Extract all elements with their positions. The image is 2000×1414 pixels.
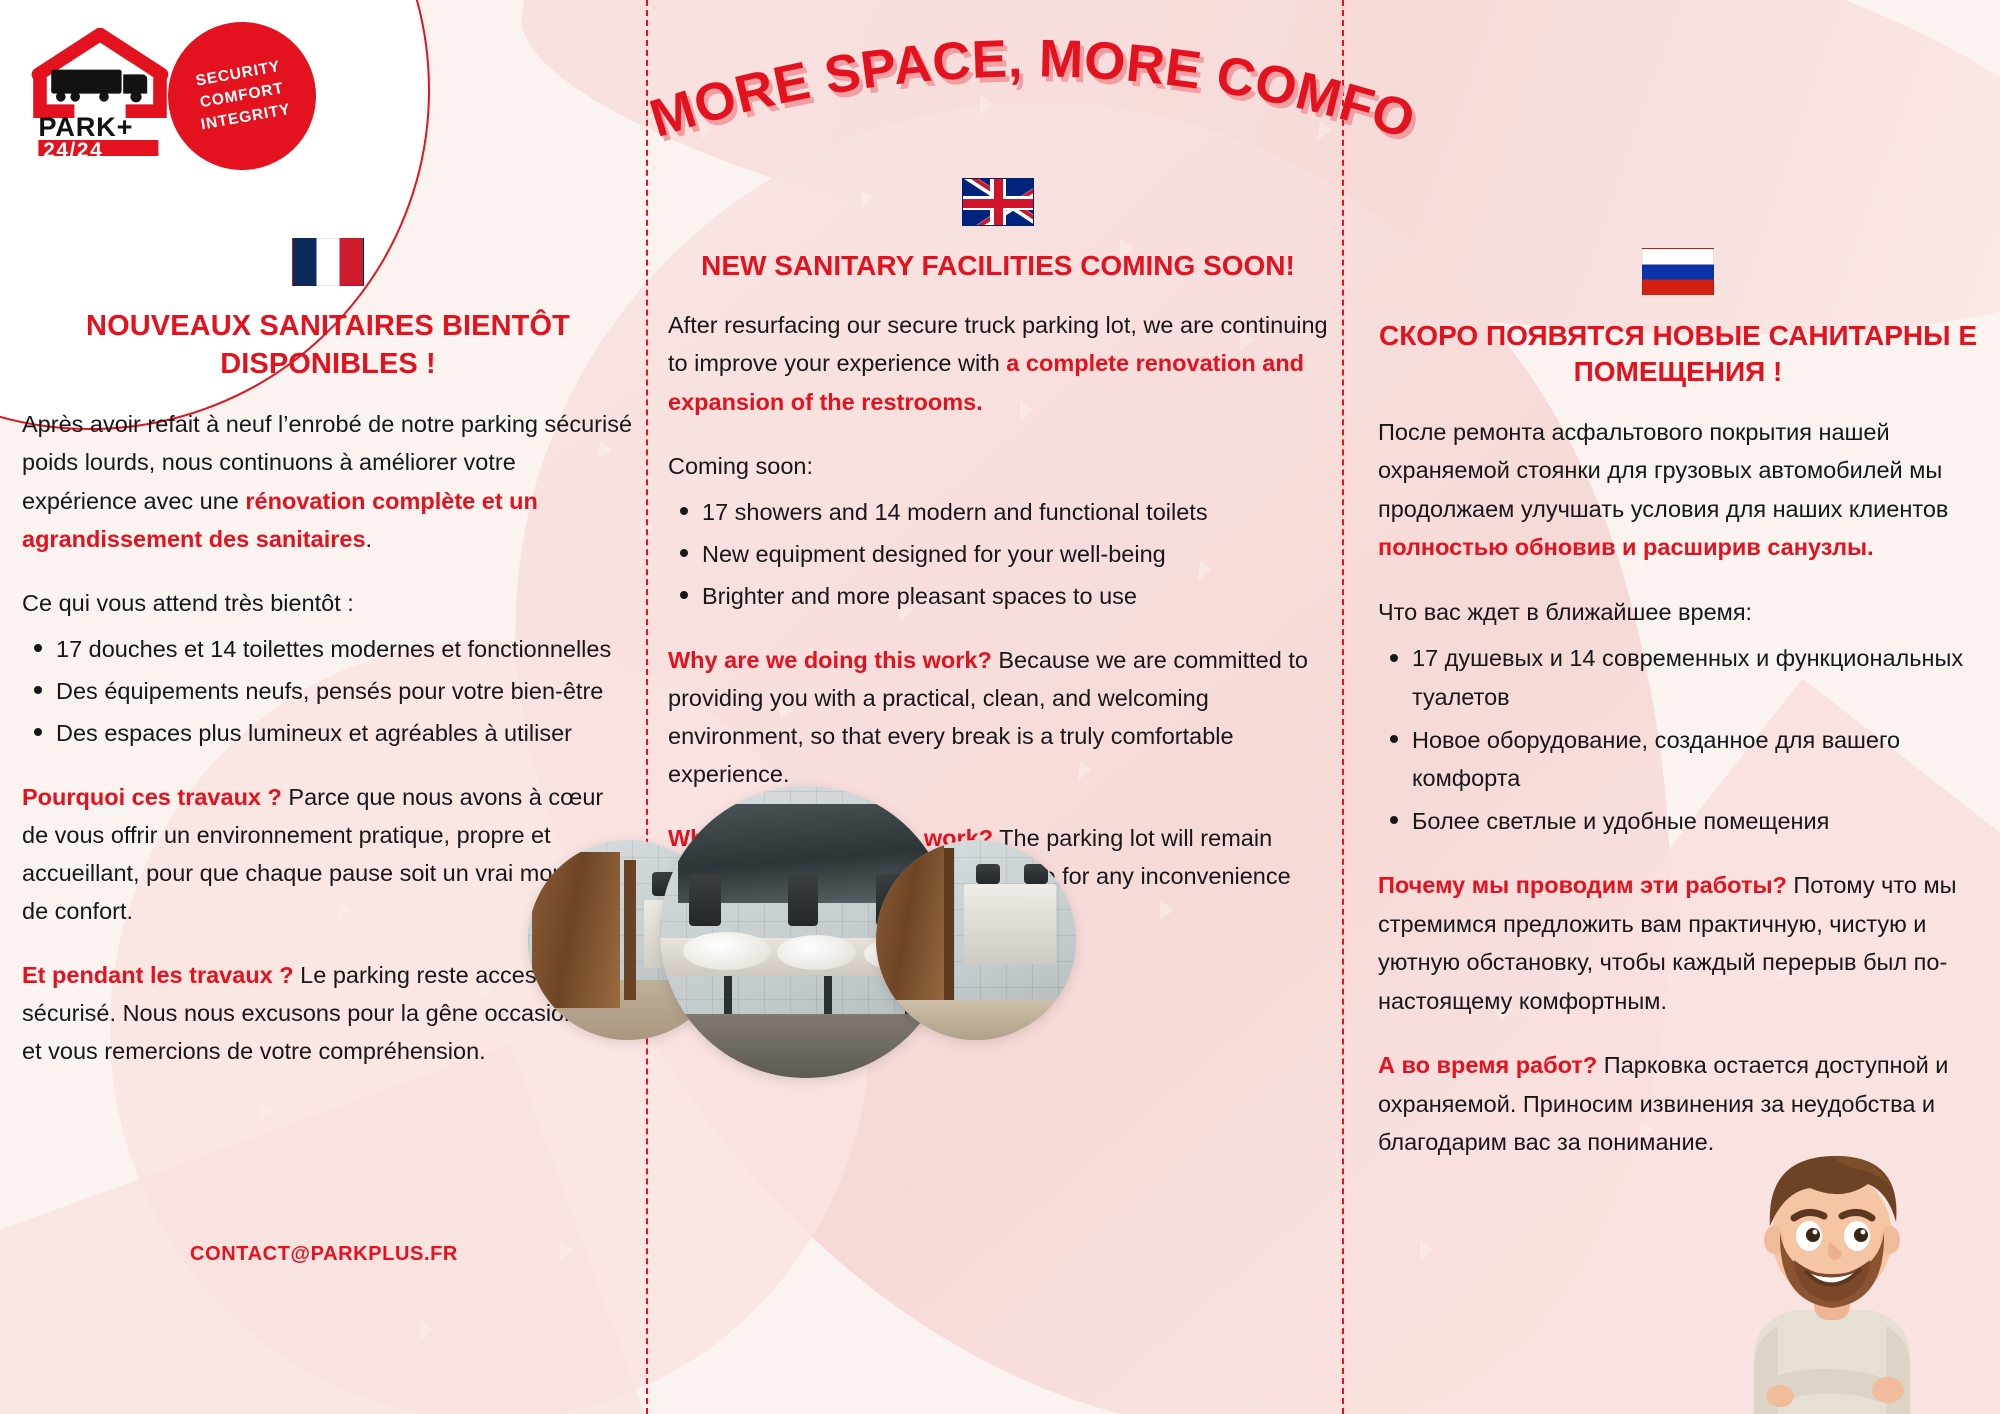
column-divider-right — [1342, 0, 1344, 1414]
english-intro: After resurfacing our secure truck parki… — [668, 306, 1328, 420]
contact-email[interactable]: CONTACT@PARKPLUS.FR — [24, 1243, 624, 1266]
french-q2-label: Et pendant les travaux ? — [22, 962, 294, 988]
russian-benefits-list: 17 душевых и 14 современных и функционал… — [1378, 639, 1978, 840]
russian-q2-label: А во время работ? — [1378, 1052, 1597, 1078]
list-item: 17 showers and 14 modern and functional … — [668, 493, 1328, 531]
french-list-lead: Ce qui vous attend très bientôt : — [22, 584, 634, 622]
russian-list-lead: Что вас ждет в ближайшее время: — [1378, 593, 1978, 632]
list-item: New equipment designed for your well-bei… — [668, 535, 1328, 573]
english-list-lead: Coming soon: — [668, 447, 1328, 485]
list-item: 17 douches et 14 toilettes modernes et f… — [22, 630, 634, 668]
french-title: NOUVEAUX SANITAIRES BIENTÔT DISPONIBLES … — [22, 308, 634, 383]
list-item: Des équipements neufs, pensés pour votre… — [22, 672, 634, 710]
russian-title: СКОРО ПОЯВЯТСЯ НОВЫЕ САНИТАРНЫ Е ПОМЕЩЕН… — [1378, 318, 1978, 391]
column-russian: СКОРО ПОЯВЯТСЯ НОВЫЕ САНИТАРНЫ Е ПОМЕЩЕН… — [1378, 248, 1978, 1188]
list-item: Более светлые и удобные помещения — [1378, 802, 1978, 841]
list-item: 17 душевых и 14 современных и функционал… — [1378, 639, 1978, 716]
page-title: MORE SPACE, MORE COMFORT! MORE SPACE, MO… — [640, 22, 1400, 202]
list-item: Новое оборудование, созданное для вашего… — [1378, 721, 1978, 798]
column-divider-left — [646, 0, 648, 1414]
france-flag-icon — [292, 238, 364, 286]
restroom-shower-area-photo — [876, 840, 1076, 1040]
french-intro: Après avoir refait à neuf l’enrobé de no… — [22, 405, 634, 557]
russian-intro-highlight: полностью обновив и расширив санузлы. — [1378, 534, 1874, 560]
svg-text:PARK+: PARK+ — [38, 111, 133, 142]
russian-intro: После ремонта асфальтового покрытия наше… — [1378, 413, 1978, 567]
list-item: Des espaces plus lumineux et agréables à… — [22, 714, 634, 752]
russian-intro-part1: После ремонта асфальтового покрытия наше… — [1378, 419, 1948, 522]
english-q1-label: Why are we doing this work? — [668, 647, 992, 673]
svg-text:24/24: 24/24 — [43, 139, 103, 156]
french-benefits-list: 17 douches et 14 toilettes modernes et f… — [22, 630, 634, 752]
french-intro-part2: . — [366, 526, 373, 552]
russian-question-1: Почему мы проводим эти работы? Потому чт… — [1378, 866, 1978, 1020]
poster-canvas: PARK+ 24/24 SECURITY COMFORT INTEGRITY M… — [0, 0, 2000, 1414]
russian-body: После ремонта асфальтового покрытия наше… — [1378, 413, 1978, 1162]
list-item: Brighter and more pleasant spaces to use — [668, 577, 1328, 615]
parkplus-logo[interactable]: PARK+ 24/24 — [24, 28, 184, 156]
english-benefits-list: 17 showers and 14 modern and functional … — [668, 493, 1328, 615]
english-title: NEW SANITARY FACILITIES COMING SOON! — [668, 248, 1328, 284]
french-q1-label: Pourquoi ces travaux ? — [22, 784, 282, 810]
english-question-1: Why are we doing this work? Because we a… — [668, 641, 1328, 793]
smiling-bearded-man-illustration — [1682, 1114, 1982, 1414]
pink-bottomleft-band — [0, 1044, 715, 1414]
russia-flag-icon — [1642, 248, 1714, 296]
russian-q1-label: Почему мы проводим эти работы? — [1378, 872, 1787, 898]
